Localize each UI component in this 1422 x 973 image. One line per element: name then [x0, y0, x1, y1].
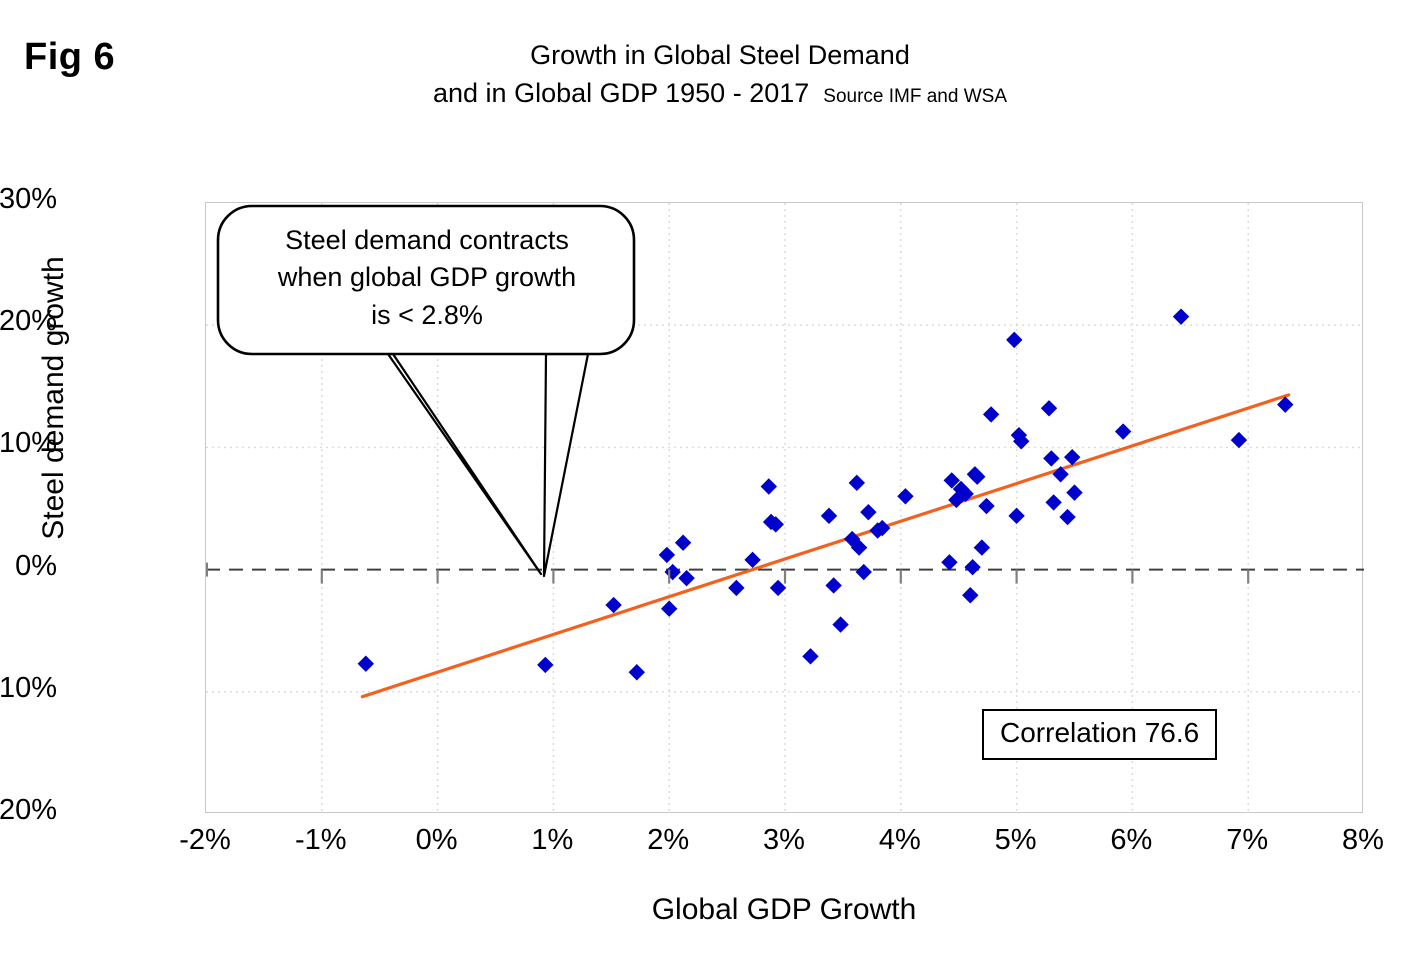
scatter-point — [825, 577, 841, 593]
scatter-point — [678, 570, 694, 586]
scatter-point — [1043, 450, 1059, 466]
x-axis-title: Global GDP Growth — [205, 893, 1363, 927]
chart-title: Growth in Global Steel Demand and in Glo… — [270, 36, 1170, 113]
y-tick-label-10: 10% — [0, 427, 57, 460]
y-tick-label-30: 30% — [0, 183, 57, 216]
figure-root: Fig 6 Growth in Global Steel Demand and … — [0, 0, 1422, 973]
scatter-point — [537, 657, 553, 673]
scatter-point — [1173, 308, 1189, 324]
scatter-point — [821, 508, 837, 524]
x-tick-label-0: 0% — [382, 824, 492, 857]
x-tick-label-6: 6% — [1076, 824, 1186, 857]
x-tick-label-3: 3% — [729, 824, 839, 857]
x-tick-label-2: 2% — [613, 824, 723, 857]
scatter-point — [744, 552, 760, 568]
x-tick-label-7: 7% — [1192, 824, 1302, 857]
axis-tickmarks — [206, 563, 1248, 584]
callout-line-3: is < 2.8% — [234, 297, 620, 334]
scatter-point — [1041, 400, 1057, 416]
y-tick-label-20: 20% — [0, 305, 57, 338]
correlation-label-box: Correlation 76.6 — [982, 709, 1217, 760]
scatter-point — [1045, 494, 1061, 510]
callout-line-2: when global GDP growth — [234, 259, 620, 296]
y-tick-label--10: -10% — [0, 672, 57, 705]
scatter-point — [1231, 432, 1247, 448]
scatter-point — [664, 564, 680, 580]
callout-annotation: Steel demand contracts when global GDP g… — [216, 204, 636, 356]
scatter-point — [983, 406, 999, 422]
x-tick-label-8: 8% — [1308, 824, 1418, 857]
scatter-point — [1008, 508, 1024, 524]
scatter-point — [605, 597, 621, 613]
y-tick-label--20: -20% — [0, 794, 57, 827]
scatter-point — [1115, 423, 1131, 439]
scatter-point — [860, 504, 876, 520]
figure-label: Fig 6 — [24, 36, 115, 79]
chart-title-line-2-text: and in Global GDP 1950 - 2017 — [433, 78, 809, 108]
scatter-point — [1066, 484, 1082, 500]
scatter-point — [761, 478, 777, 494]
scatter-point — [856, 564, 872, 580]
x-tick-label-1: 1% — [497, 824, 607, 857]
x-tick-label-4: 4% — [845, 824, 955, 857]
scatter-point — [1006, 332, 1022, 348]
scatter-point — [1059, 509, 1075, 525]
scatter-point — [897, 488, 913, 504]
scatter-point — [675, 535, 691, 551]
scatter-point — [728, 580, 744, 596]
chart-title-line-1: Growth in Global Steel Demand — [270, 36, 1170, 74]
scatter-point — [659, 547, 675, 563]
scatter-point — [358, 655, 374, 671]
scatter-point — [661, 601, 677, 617]
scatter-point — [964, 559, 980, 575]
chart-source-note: Source IMF and WSA — [809, 86, 1007, 107]
scatter-point — [978, 498, 994, 514]
x-tick-label-5: 5% — [961, 824, 1071, 857]
scatter-point — [962, 587, 978, 603]
x-tick-label--1: -1% — [266, 824, 376, 857]
y-axis-title: Steel demand growth — [32, 88, 76, 708]
x-tick-label--2: -2% — [150, 824, 260, 857]
y-tick-label-0: 0% — [0, 550, 57, 583]
scatter-point — [941, 554, 957, 570]
correlation-value-text: Correlation 76.6 — [1000, 717, 1199, 748]
scatter-point — [802, 648, 818, 664]
scatter-point — [770, 580, 786, 596]
callout-text: Steel demand contracts when global GDP g… — [234, 222, 620, 334]
scatter-point — [832, 616, 848, 632]
scatter-point — [629, 664, 645, 680]
scatter-point — [849, 475, 865, 491]
chart-title-line-2: and in Global GDP 1950 - 2017Source IMF … — [270, 74, 1170, 112]
scatter-point — [974, 539, 990, 555]
callout-line-1: Steel demand contracts — [234, 222, 620, 259]
